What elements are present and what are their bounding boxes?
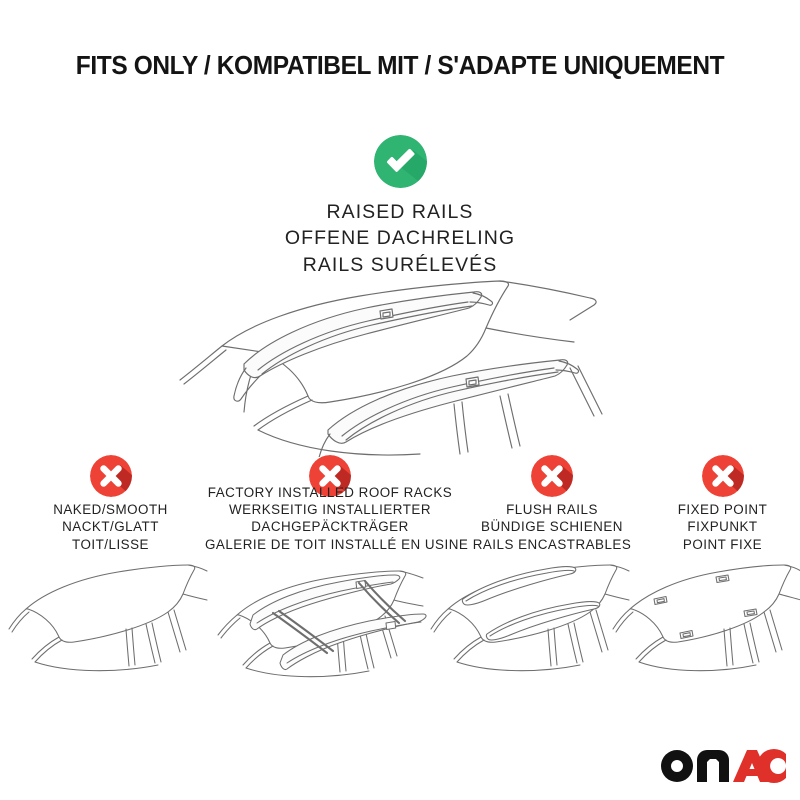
incompatible-item-factory-roof-racks: FACTORY INSTALLED ROOF RACKS WERKSEITIG … xyxy=(205,455,455,553)
car-roof-with-fixed-points-illustration xyxy=(612,553,800,678)
incompatible-item-flush-rails: FLUSH RAILS BÜNDIGE SCHIENEN RAILS ENCAS… xyxy=(452,455,652,553)
incompatible-label-de-1: WERKSEITIG INSTALLIERTER xyxy=(205,501,455,518)
page-title: FITS ONLY / KOMPATIBEL MIT / S'ADAPTE UN… xyxy=(16,52,784,81)
car-roof-with-factory-crossbars-illustration xyxy=(213,553,428,683)
incompatible-labels: FIXED POINT FIXPUNKT POINT FIXE xyxy=(645,501,800,553)
cross-circle-icon xyxy=(531,455,573,497)
incompatible-label-en: NAKED/SMOOTH xyxy=(13,501,208,518)
incompatible-label-de-2: DACHGEPÄCKTRÄGER xyxy=(205,518,455,535)
incompatible-labels: NAKED/SMOOTH NACKT/GLATT TOIT/LISSE xyxy=(13,501,208,553)
incompatible-label-fr: TOIT/LISSE xyxy=(13,536,208,553)
compatible-labels: RAISED RAILS OFFENE DACHRELING RAILS SUR… xyxy=(0,199,800,278)
incompatible-label-fr: GALERIE DE TOIT INSTALLÉ EN USINE xyxy=(205,536,455,553)
cross-circle-icon xyxy=(90,455,132,497)
incompatible-item-fixed-point: FIXED POINT FIXPUNKT POINT FIXE xyxy=(645,455,800,553)
car-roof-with-flush-rails-illustration xyxy=(430,553,630,678)
compatible-label-en: RAISED RAILS xyxy=(0,199,800,225)
compatible-section: RAISED RAILS OFFENE DACHRELING RAILS SUR… xyxy=(0,135,800,278)
incompatible-labels: FACTORY INSTALLED ROOF RACKS WERKSEITIG … xyxy=(205,484,455,553)
incompatible-label-en: FIXED POINT xyxy=(645,501,800,518)
omac-logo xyxy=(657,746,787,792)
incompatible-label-fr: POINT FIXE xyxy=(645,536,800,553)
incompatible-label-de: FIXPUNKT xyxy=(645,518,800,535)
incompatible-label-en: FACTORY INSTALLED ROOF RACKS xyxy=(205,484,455,501)
check-circle-icon xyxy=(374,135,427,188)
compatible-label-de: OFFENE DACHRELING xyxy=(0,225,800,251)
incompatible-label-de: BÜNDIGE SCHIENEN xyxy=(452,518,652,535)
incompatible-label-en: FLUSH RAILS xyxy=(452,501,652,518)
car-roof-naked-smooth-illustration xyxy=(8,553,208,678)
incompatible-label-de: NACKT/GLATT xyxy=(13,518,208,535)
incompatible-labels: FLUSH RAILS BÜNDIGE SCHIENEN RAILS ENCAS… xyxy=(452,501,652,553)
incompatible-label-fr: RAILS ENCASTRABLES xyxy=(452,536,652,553)
cross-circle-icon xyxy=(702,455,744,497)
incompatible-item-naked-smooth: NAKED/SMOOTH NACKT/GLATT TOIT/LISSE xyxy=(13,455,208,553)
car-roof-with-raised-rails-illustration xyxy=(170,272,640,457)
